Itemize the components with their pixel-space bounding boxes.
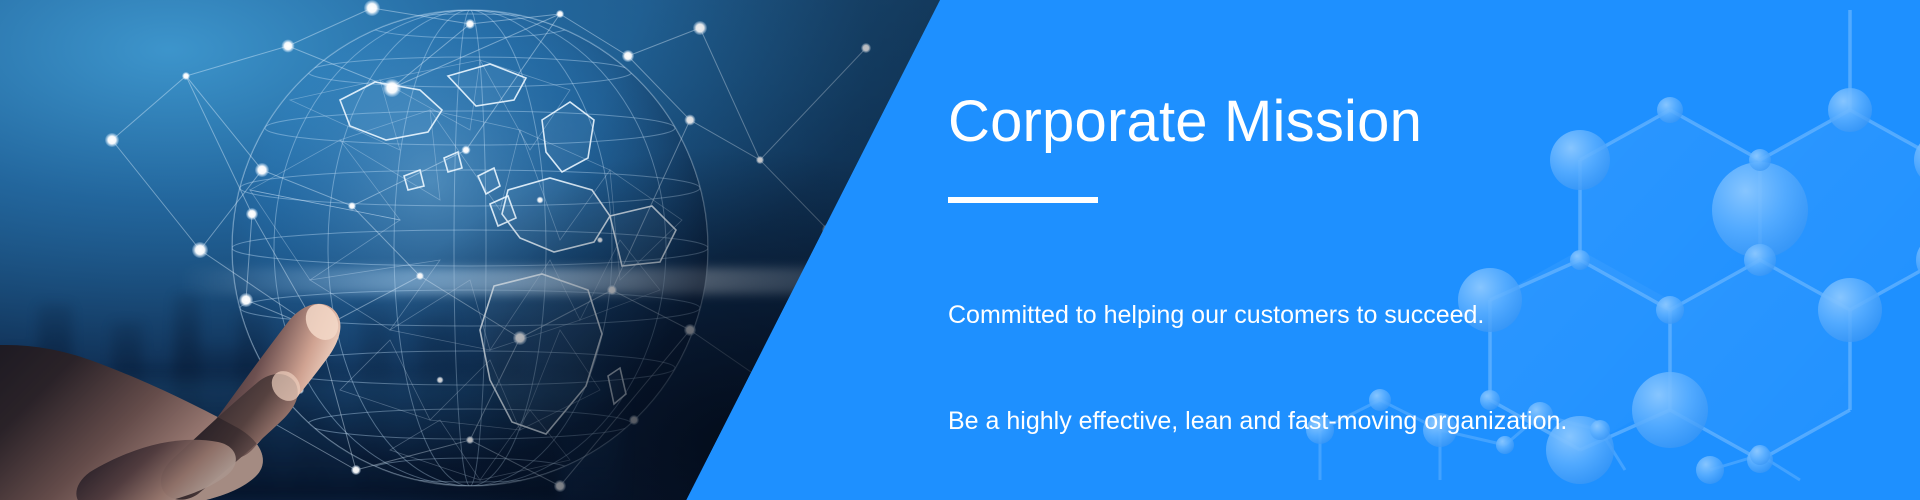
corporate-mission-banner: .bond{stroke:#6FB8FF;stroke-opacity:.65;… [0, 0, 1920, 500]
mission-line-1: Committed to helping our customers to su… [948, 298, 1808, 334]
mission-content: Corporate Mission Committed to helping o… [948, 92, 1808, 500]
title-divider-rule [948, 197, 1098, 203]
mission-statement: Committed to helping our customers to su… [948, 227, 1808, 500]
mission-line-2: Be a highly effective, lean and fast-mov… [948, 404, 1808, 440]
page-title: Corporate Mission [948, 92, 1808, 153]
